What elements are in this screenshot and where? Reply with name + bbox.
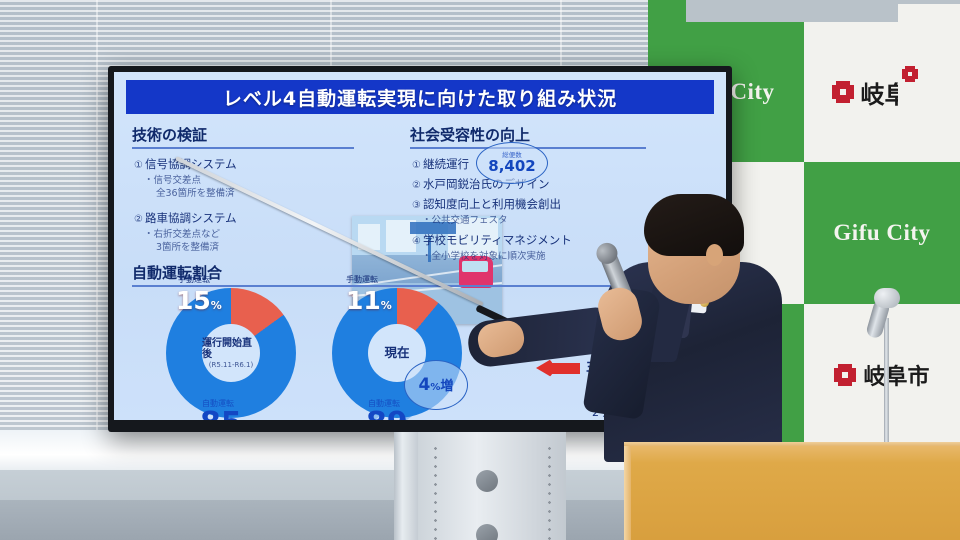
right-item-3-num: ③ <box>412 200 421 211</box>
screenshot-frame: Gifu City 岐阜市 Gifu City 岐阜市 <box>0 0 960 540</box>
tv-stand-neck <box>394 432 418 540</box>
gifu-mon-icon <box>902 66 918 82</box>
donut-2-center-label: 現在 <box>384 346 409 360</box>
slide-title-banner: レベル4自動運転実現に向けた取り組み状況 <box>126 80 714 114</box>
left-item-2-num: ② <box>134 214 143 225</box>
total-trips-label: 総便数 <box>502 152 522 159</box>
podium <box>624 446 960 540</box>
mic-stand-capsule <box>874 288 900 308</box>
backdrop-brand-jp-2: 岐阜市 <box>863 359 929 391</box>
increase-bubble: 4%増 <box>404 360 468 410</box>
presenter-ear <box>706 244 723 266</box>
donut-2-manual-value: 11% <box>346 286 392 315</box>
right-item-1-text: 継続運行 <box>423 157 469 171</box>
mic-stand-pole <box>884 318 889 448</box>
donut-1-manual-label: 手動運転 <box>178 274 210 285</box>
total-trips-value: 8,402 <box>488 159 535 174</box>
tv-stand-perforation <box>434 444 437 540</box>
right-item-3-text: 認知度向上と利用機会創出 <box>423 197 561 211</box>
backdrop-panel-edge <box>898 4 960 144</box>
left-item-2-sub-1: ・右折交差点など <box>134 228 237 241</box>
right-item-3-sub: ・公共交通フェスタ <box>412 214 561 227</box>
donut-1-manual-value: 15% <box>176 286 222 315</box>
increase-value-group: 4%増 <box>419 375 454 395</box>
backdrop-panel-gifucity: Gifu City <box>804 162 960 304</box>
donut-2-auto-value: 89% <box>366 406 421 420</box>
gifu-mon-icon <box>834 364 856 386</box>
left-item-2: ②路車協調システム ・右折交差点など 3箇所を整備済 <box>134 210 237 254</box>
left-item-2-sub-2: 3箇所を整備済 <box>134 241 237 254</box>
left-item-1-sub-2: 全36箇所を整備済 <box>134 187 237 200</box>
left-item-2-text: 路車協調システム <box>145 211 237 225</box>
donut-1-auto-value: 85% <box>200 406 255 420</box>
gifu-mon-icon <box>832 81 854 103</box>
donut-1-center: 運行開始直後 (R5.11-R6.1) <box>202 324 260 382</box>
right-item-1: ①継続運行 <box>412 156 469 174</box>
tv-stand-perforation <box>548 444 551 540</box>
right-item-4: ④学校モビリティマネジメント ・全小学校を対象に順次実施 <box>412 232 572 263</box>
right-item-1-num: ① <box>412 160 421 171</box>
donut-1-center-sublabel: (R5.11-R6.1) <box>209 361 253 369</box>
section-heading-technology: 技術の検証 <box>132 124 354 149</box>
donut-1-center-label: 運行開始直後 <box>202 338 260 361</box>
red-pointer-arrow-icon <box>536 358 580 378</box>
slide-title-text: レベル4自動運転実現に向けた取り組み状況 <box>223 84 617 111</box>
right-item-4-sub: ・全小学校を対象に順次実施 <box>412 250 572 263</box>
podium-edge <box>624 446 631 540</box>
right-item-2-num: ② <box>412 180 421 191</box>
donut-chart-1: 運行開始直後 (R5.11-R6.1) 手動運転 15% 自動運転 85% <box>166 288 296 418</box>
right-item-4-text: 学校モビリティマネジメント <box>423 233 572 247</box>
left-item-1-num: ① <box>134 160 143 171</box>
backdrop-brand-latin-2: Gifu City <box>833 220 930 246</box>
donut-2-manual-label: 手動運転 <box>346 274 378 285</box>
total-trips-bubble: 総便数 8,402 <box>476 142 548 184</box>
presenter-hair <box>644 194 744 256</box>
right-item-3: ③認知度向上と利用機会創出 ・公共交通フェスタ <box>412 196 561 227</box>
tv-stand-knob <box>476 470 498 492</box>
right-item-4-num: ④ <box>412 236 421 247</box>
tv-stand-knob <box>476 524 498 540</box>
